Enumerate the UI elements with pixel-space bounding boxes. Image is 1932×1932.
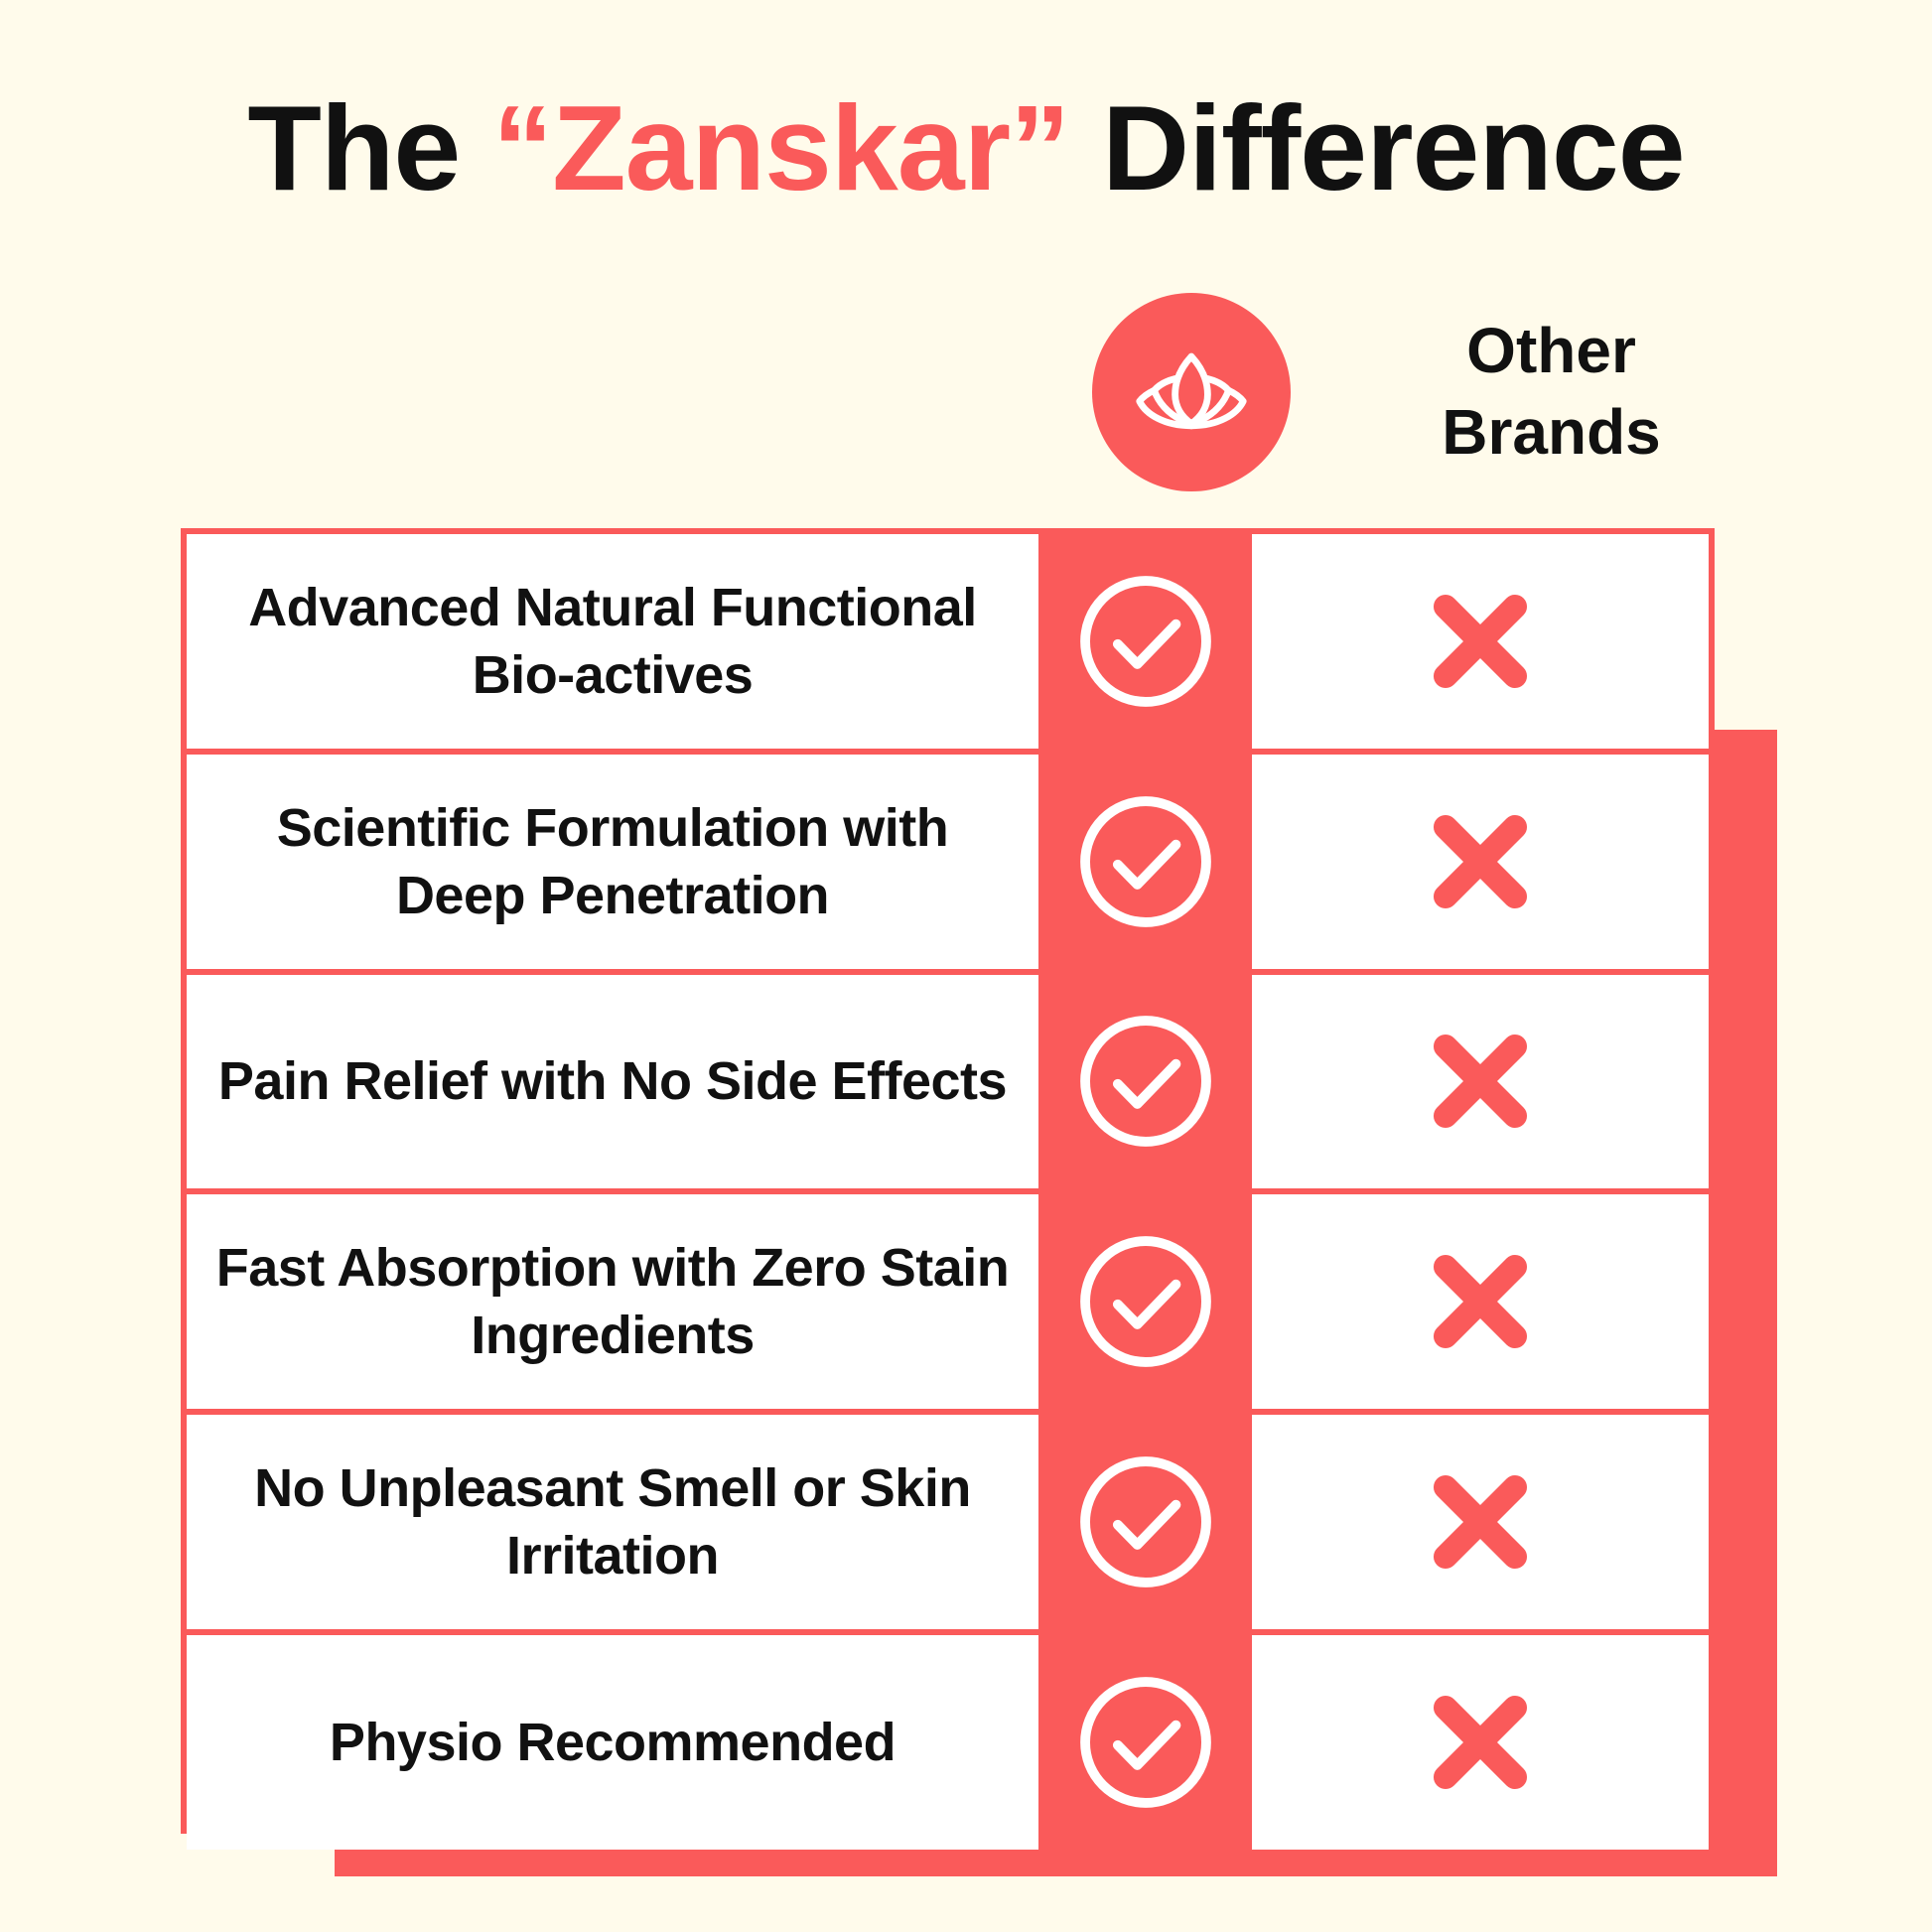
feature-label: Scientific Formulation with Deep Penetra… [210,794,1015,929]
zanskar-cell [1038,534,1252,749]
comparison-table: Advanced Natural Functional Bio-activesS… [181,528,1715,1834]
lotus-icon [1092,293,1291,491]
feature-cell: No Unpleasant Smell or Skin Irritation [187,1415,1038,1629]
feature-label: Advanced Natural Functional Bio-actives [210,574,1015,709]
zanskar-cell [1038,1194,1252,1409]
feature-cell: Physio Recommended [187,1635,1038,1850]
table-row: No Unpleasant Smell or Skin Irritation [187,1415,1709,1629]
page-title: The “Zanskar” Difference [0,81,1932,214]
check-circle-icon [1071,1448,1220,1596]
check-circle-icon [1071,567,1220,716]
zanskar-cell [1038,755,1252,969]
feature-label: Fast Absorption with Zero Stain Ingredie… [210,1234,1015,1369]
check-circle-icon [1071,1227,1220,1376]
page-title-prefix: The [247,80,492,215]
zanskar-cell [1038,975,1252,1189]
cross-icon [1411,1673,1550,1812]
comparison-header: OtherBrands [1037,293,1713,506]
table-row: Pain Relief with No Side Effects [187,975,1709,1189]
feature-label: Physio Recommended [330,1709,896,1776]
feature-label: No Unpleasant Smell or Skin Irritation [210,1454,1015,1589]
zanskar-cell [1038,1635,1252,1850]
other-brands-cell [1252,975,1709,1189]
other-brands-heading: OtherBrands [1390,311,1713,474]
check-circle-icon [1071,787,1220,936]
other-brands-cell [1252,1194,1709,1409]
page-title-suffix: Difference [1069,80,1685,215]
table-row: Fast Absorption with Zero Stain Ingredie… [187,1194,1709,1409]
table-row: Physio Recommended [187,1635,1709,1850]
feature-cell: Scientific Formulation with Deep Penetra… [187,755,1038,969]
table-row: Advanced Natural Functional Bio-actives [187,534,1709,749]
feature-label: Pain Relief with No Side Effects [218,1047,1007,1115]
zanskar-cell [1038,1415,1252,1629]
other-brands-cell [1252,755,1709,969]
other-brands-cell [1252,1635,1709,1850]
cross-icon [1411,1012,1550,1151]
page-title-accent: “Zanskar” [492,80,1069,215]
cross-icon [1411,792,1550,931]
other-brands-line: Other [1466,315,1636,386]
other-brands-line: Brands [1442,396,1661,468]
table-row: Scientific Formulation with Deep Penetra… [187,755,1709,969]
feature-cell: Fast Absorption with Zero Stain Ingredie… [187,1194,1038,1409]
cross-icon [1411,572,1550,711]
feature-cell: Pain Relief with No Side Effects [187,975,1038,1189]
other-brands-cell [1252,1415,1709,1629]
check-circle-icon [1071,1007,1220,1156]
other-brands-cell [1252,534,1709,749]
cross-icon [1411,1452,1550,1591]
check-circle-icon [1071,1668,1220,1817]
cross-icon [1411,1232,1550,1371]
feature-cell: Advanced Natural Functional Bio-actives [187,534,1038,749]
